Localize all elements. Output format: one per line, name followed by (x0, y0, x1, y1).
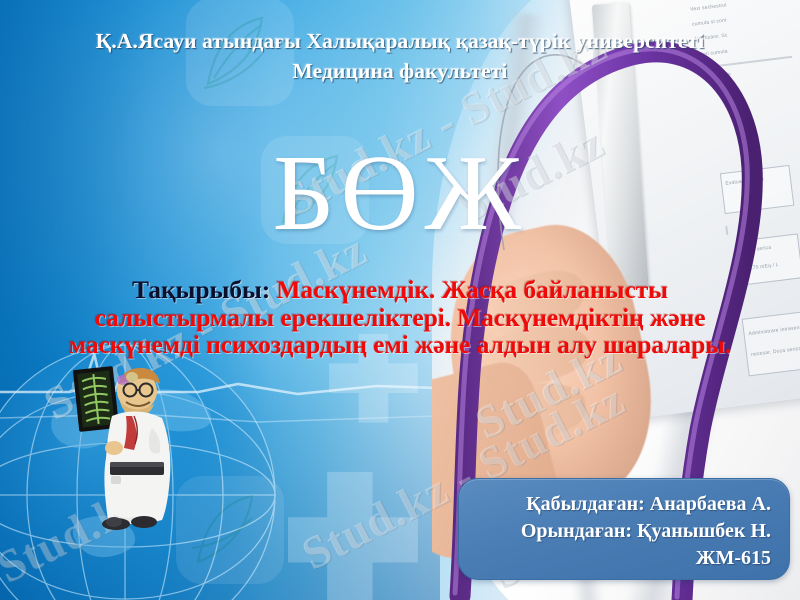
university-header: Қ.А.Ясауи атындағы Халықаралық қазақ-түр… (0, 26, 800, 86)
subject-statement: Тақырыбы: Маскүнемдік. Жасқа байланысты … (48, 276, 752, 359)
performed-by-line: Орындаған: Қуанышбек Н. (477, 518, 771, 545)
authors-info-box: Қабылдаған: Анарбаева А. Орындаған: Қуан… (458, 478, 790, 580)
page-title: БӨЖ (0, 140, 800, 248)
group-code-line: ЖМ-615 (477, 545, 771, 572)
presentation-title-slide: Momentul Vezi sechestrul cumula si cont … (0, 0, 800, 600)
accepted-by-line: Қабылдаған: Анарбаева А. (477, 491, 771, 518)
university-name: Қ.А.Ясауи атындағы Халықаралық қазақ-түр… (0, 26, 800, 56)
faculty-name: Медицина факультеті (0, 56, 800, 86)
slide-content: Қ.А.Ясауи атындағы Халықаралық қазақ-түр… (0, 0, 800, 600)
subject-label: Тақырыбы: (132, 275, 270, 304)
